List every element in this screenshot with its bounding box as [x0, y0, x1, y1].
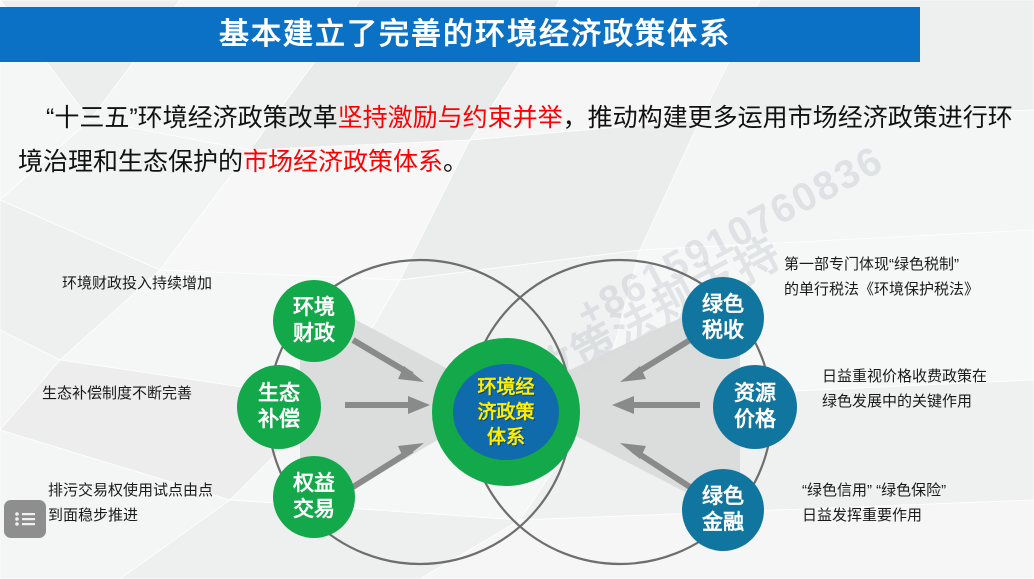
body-line2-highlight: 市场经济政策体系	[243, 148, 443, 176]
note-resource-pricing: 日益重视价格收费政策在 绿色发展中的关键作用	[822, 364, 987, 414]
page-title: 基本建立了完善的环境经济政策体系	[189, 20, 731, 50]
menu-button[interactable]	[4, 500, 46, 538]
center-label-line-1: 环境经	[477, 375, 534, 400]
node-green-finance[interactable]: 绿色 金融	[682, 469, 764, 551]
center-node-core[interactable]: 环境经 济政策 体系	[453, 364, 559, 460]
body-line2-part2: 。	[443, 148, 468, 176]
body-line1-highlight: 坚持激励与约束并举	[338, 104, 563, 132]
note-rights-trading: 排污交易权使用试点由点 到面稳步推进	[48, 478, 213, 528]
center-label-line-2: 济政策	[477, 400, 534, 425]
note-line-2: 的单行税法《环境保护税法》	[784, 277, 979, 302]
node-label-line-2: 补偿	[258, 407, 300, 433]
node-label-line-1: 资源	[734, 381, 776, 407]
slide-canvas: 环境政策法规支持 +8615910760836 基本建立了完善的环境经济政策体系	[0, 0, 1034, 579]
node-label-line-1: 生态	[258, 381, 300, 407]
center-label-line-3: 体系	[487, 425, 525, 450]
node-rights-trading[interactable]: 权益 交易	[273, 456, 355, 538]
node-environmental-finance[interactable]: 环境 财政	[273, 280, 355, 362]
note-line-1: “绿色信用” “绿色保险”	[802, 478, 946, 503]
node-resource-pricing[interactable]: 资源 价格	[713, 365, 797, 449]
note-environmental-finance: 环境财政投入持续增加	[62, 271, 212, 296]
node-ecological-compensation[interactable]: 生态 补偿	[237, 365, 321, 449]
node-label-line-2: 金融	[702, 510, 744, 536]
note-line-1: 日益重视价格收费政策在	[822, 364, 987, 389]
node-label-line-1: 绿色	[702, 484, 744, 510]
node-label-line-1: 绿色	[702, 292, 744, 318]
slide-title-bar: 基本建立了完善的环境经济政策体系	[0, 7, 920, 62]
node-label-line-2: 财政	[293, 321, 335, 347]
node-label-line-1: 环境	[293, 295, 335, 321]
node-green-taxation[interactable]: 绿色 税收	[682, 277, 764, 359]
note-green-taxation: 第一部专门体现“绿色税制” 的单行税法《环境保护税法》	[784, 252, 979, 302]
body-paragraph: “十三五”环境经济政策改革坚持激励与约束并举，推动构建更多运用市场经济政策进行环…	[18, 96, 1018, 184]
body-line1-part2: ，推动构建更多运用市场	[563, 104, 838, 132]
note-line-2: 到面稳步推进	[48, 503, 213, 528]
list-menu-icon	[14, 511, 36, 527]
note-line-1: 第一部专门体现“绿色税制”	[784, 252, 979, 277]
note-ecological-compensation: 生态补偿制度不断完善	[42, 381, 192, 406]
note-line-1: 排污交易权使用试点由点	[48, 478, 213, 503]
node-label-line-2: 交易	[293, 497, 335, 523]
note-line-2: 绿色发展中的关键作用	[822, 389, 987, 414]
node-label-line-2: 税收	[702, 318, 744, 344]
note-green-finance: “绿色信用” “绿色保险” 日益发挥重要作用	[802, 478, 946, 528]
note-line-2: 日益发挥重要作用	[802, 503, 946, 528]
body-line1-part1: “十三五”环境经济政策改革	[46, 104, 338, 132]
node-label-line-2: 价格	[734, 407, 776, 433]
node-label-line-1: 权益	[293, 471, 335, 497]
